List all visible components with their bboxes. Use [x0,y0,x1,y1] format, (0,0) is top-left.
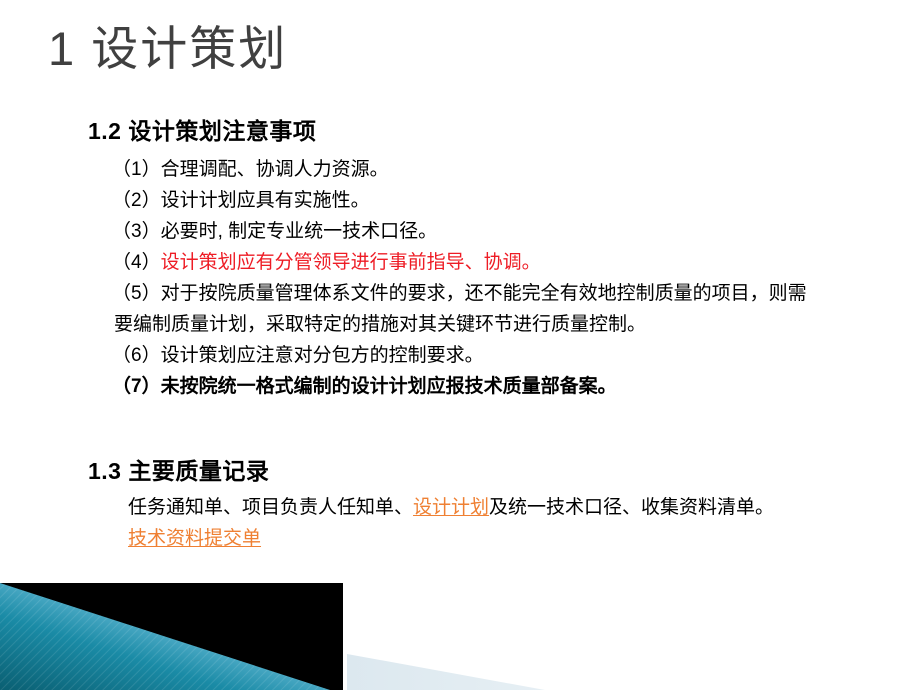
list-item-text: 必要时, 制定专业统一技术口径。 [161,221,438,242]
pale-blue-wedge [347,654,545,690]
list-item-text: 要编制质量计划，采取特定的措施对其关键环节进行质量控制。 [114,314,646,335]
list-item-number: （3） [112,221,161,242]
list-item-text: 对于按院质量管理体系文件的要求，还不能完全有效地控制质量的项目，则需 [161,283,807,304]
section-spacer [88,402,898,454]
slide-content: 1.2 设计策划注意事项 （1）合理调配、协调人力资源。 （2）设计计划应具有实… [88,114,898,554]
records-text-before-link: 任务通知单、项目负责人任知单、 [128,497,413,518]
black-band [0,583,343,690]
list-item-number: （6） [112,345,161,366]
list-item: （6）设计策划应注意对分包方的控制要求。 [88,340,898,371]
list-item-highlighted: （4）设计策划应有分管领导进行事前指导、协调。 [88,247,898,278]
list-item-number: （2） [112,190,161,211]
slide-canvas: 1 设计策划 1.2 设计策划注意事项 （1）合理调配、协调人力资源。 （2）设… [0,0,920,690]
hyperlink-design-plan[interactable]: 设计计划 [413,497,489,518]
list-item: （5）对于按院质量管理体系文件的要求，还不能完全有效地控制质量的项目，则需 [88,278,898,309]
records-text-after-link: 及统一技术口径、收集资料清单。 [489,497,774,518]
notes-list: （1）合理调配、协调人力资源。 （2）设计计划应具有实施性。 （3）必要时, 制… [88,154,898,402]
list-item: （3）必要时, 制定专业统一技术口径。 [88,216,898,247]
section-heading-1-3: 1.3 主要质量记录 [88,454,898,488]
list-item-number: （7） [112,376,161,397]
list-item-continuation: 要编制质量计划，采取特定的措施对其关键环节进行质量控制。 [88,309,898,340]
teal-diagonal-triangle [0,583,330,690]
list-item-number: （5） [112,283,161,304]
list-item-text: 未按院统一格式编制的设计计划应报技术质量部备案。 [161,376,617,397]
footer-decoration [0,580,920,690]
records-line-1: 任务通知单、项目负责人任知单、设计计划及统一技术口径、收集资料清单。 [88,492,898,523]
list-item: （1）合理调配、协调人力资源。 [88,154,898,185]
hyperlink-tech-doc-submission[interactable]: 技术资料提交单 [128,528,261,549]
list-item-bold: （7）未按院统一格式编制的设计计划应报技术质量部备案。 [88,371,898,402]
page-title: 1 设计策划 [48,18,287,80]
list-item-number: （1） [112,159,161,180]
list-item-text: 设计计划应具有实施性。 [161,190,370,211]
list-item-text: 合理调配、协调人力资源。 [161,159,389,180]
list-item-number: （4） [112,252,161,273]
list-item-text: 设计策划应有分管领导进行事前指导、协调。 [161,252,541,273]
teal-triangle-texture [0,583,330,690]
section-heading-1-2: 1.2 设计策划注意事项 [88,114,898,148]
records-line-2: 技术资料提交单 [88,523,898,554]
list-item-text: 设计策划应注意对分包方的控制要求。 [161,345,484,366]
list-item: （2）设计计划应具有实施性。 [88,185,898,216]
